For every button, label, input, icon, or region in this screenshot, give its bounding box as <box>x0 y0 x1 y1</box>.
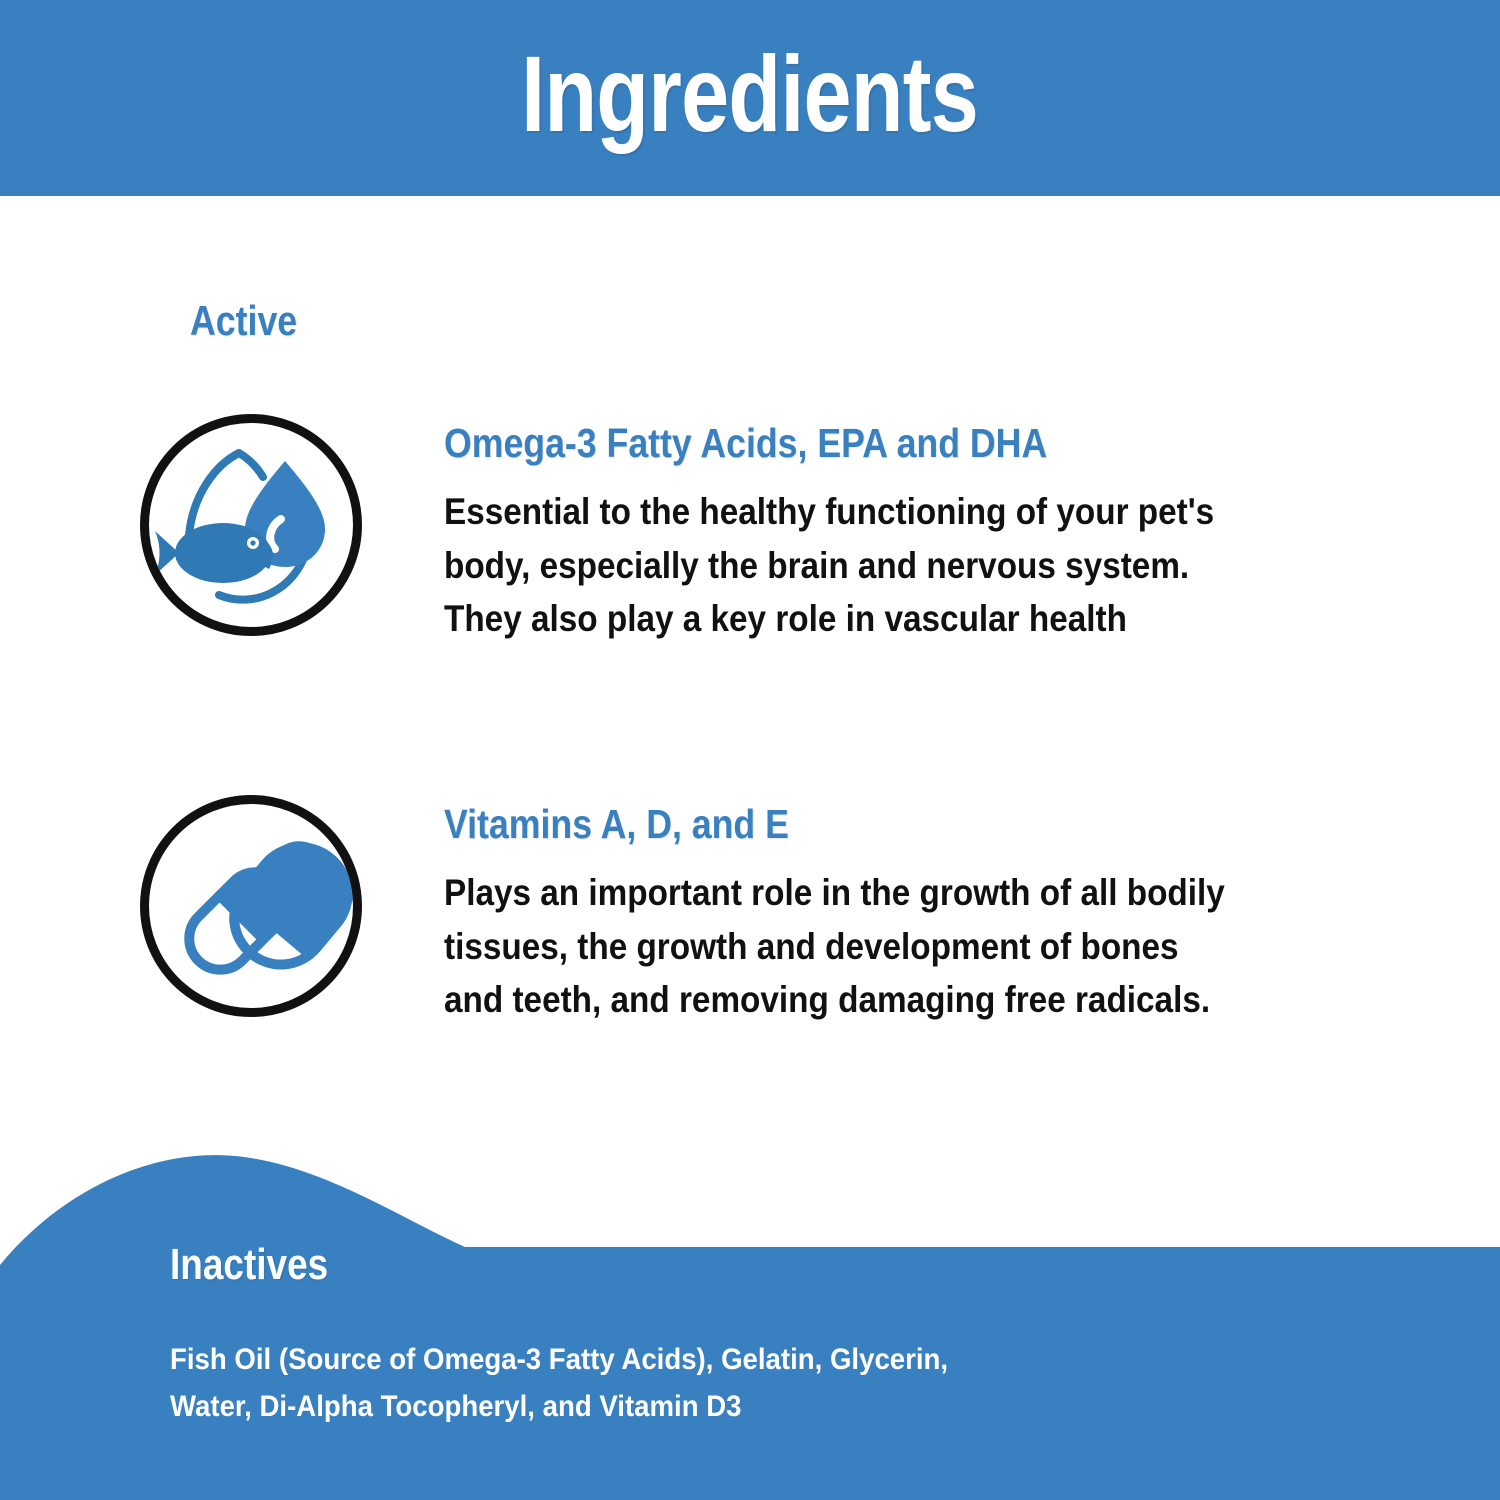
header-band: Ingredients <box>0 0 1500 196</box>
ingredient-row: Vitamins A, D, and E Plays an important … <box>140 795 1430 1027</box>
section-label-inactives: Inactives <box>170 1240 328 1290</box>
page-title: Ingredients <box>522 40 979 156</box>
inactives-body: Fish Oil (Source of Omega-3 Fatty Acids)… <box>170 1337 948 1430</box>
ingredient-body-line: They also play a key role in vascular he… <box>444 592 1500 646</box>
ingredient-heading: Omega-3 Fatty Acids, EPA and DHA <box>444 420 1471 467</box>
fish-water-drop-icon <box>140 414 362 636</box>
ingredient-body: Plays an important role in the growth of… <box>444 866 1500 1027</box>
ingredient-heading: Vitamins A, D, and E <box>444 801 1471 848</box>
ingredient-body-line: tissues, the growth and development of b… <box>444 920 1500 974</box>
ingredient-text-block: Omega-3 Fatty Acids, EPA and DHA Essenti… <box>362 414 1500 646</box>
ingredient-body-line: Essential to the healthy functioning of … <box>444 485 1500 539</box>
section-label-active: Active <box>190 297 297 345</box>
ingredient-body-line: and teeth, and removing damaging free ra… <box>444 973 1500 1027</box>
ingredient-body-line: body, especially the brain and nervous s… <box>444 539 1500 593</box>
inactives-body-line: Water, Di-Alpha Tocopheryl, and Vitamin … <box>170 1384 948 1431</box>
footer-wave-shape <box>0 1140 1500 1500</box>
ingredient-body: Essential to the healthy functioning of … <box>444 485 1500 646</box>
ingredient-text-block: Vitamins A, D, and E Plays an important … <box>362 795 1500 1027</box>
ingredient-body-line: Plays an important role in the growth of… <box>444 866 1500 920</box>
inactives-body-line: Fish Oil (Source of Omega-3 Fatty Acids)… <box>170 1337 948 1384</box>
capsule-pills-icon <box>140 795 362 1017</box>
ingredients-infographic: Ingredients Active <box>0 0 1500 1500</box>
ingredient-row: Omega-3 Fatty Acids, EPA and DHA Essenti… <box>140 414 1430 646</box>
